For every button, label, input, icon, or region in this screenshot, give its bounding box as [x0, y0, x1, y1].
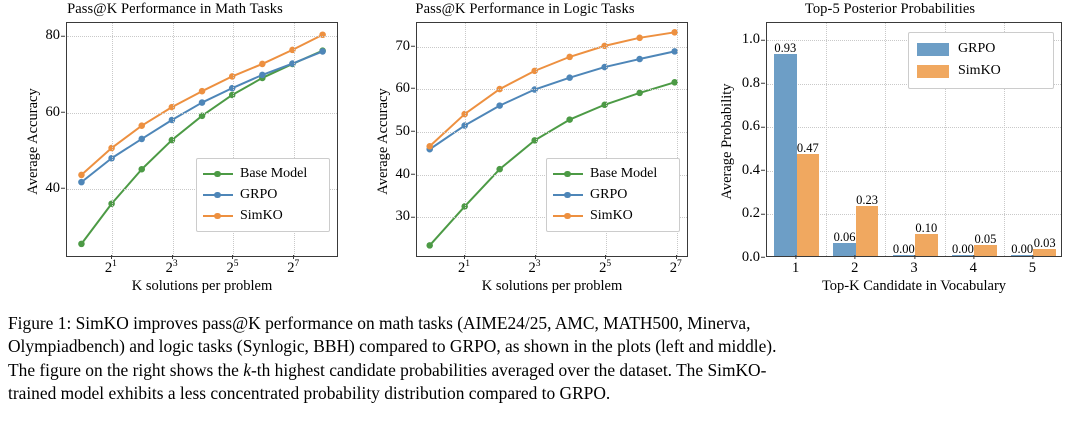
gridline-horizontal: [767, 127, 1061, 128]
bar-value-label: 0.93: [774, 41, 796, 56]
x-tick-label: 23: [529, 260, 541, 277]
y-tick-label: 0.6: [742, 119, 760, 134]
caption-line-2: Olympiadbench) and logic tasks (Synlogic…: [8, 335, 1072, 358]
chart-title-posterior: Top-5 Posterior Probabilities: [700, 1, 1080, 18]
y-tick-label: 50: [396, 124, 411, 139]
gridline-horizontal: [417, 47, 687, 48]
y-tick-label: 30: [396, 209, 411, 224]
tick-mark: [761, 83, 765, 84]
y-axis-label-math: Average Accuracy: [25, 24, 42, 259]
tick-mark: [61, 112, 65, 113]
legend-item: Base Model: [553, 163, 672, 184]
gridline-vertical: [173, 23, 174, 256]
data-point: [496, 102, 503, 109]
y-tick-label: 0.4: [742, 163, 760, 178]
series-line-grpo: [430, 51, 675, 149]
bar-value-label: 0.03: [1034, 236, 1056, 251]
tick-mark: [61, 188, 65, 189]
data-point: [566, 74, 573, 81]
x-tick-label: 27: [287, 260, 299, 277]
chart-title-logic: Pass@K Performance in Logic Tasks: [350, 1, 700, 18]
bar-value-label: 0.00: [893, 242, 915, 257]
tick-mark: [411, 216, 415, 217]
y-axis-label-logic: Average Accuracy: [375, 24, 392, 259]
tick-mark: [464, 255, 465, 259]
figure-caption: Figure 1: SimKO improves pass@K performa…: [8, 312, 1072, 406]
bar-simko-2: [856, 206, 879, 256]
x-tick-label: 25: [226, 260, 238, 277]
data-point: [259, 72, 266, 79]
legend-line-swatch: [553, 189, 583, 201]
tick-mark: [293, 255, 294, 259]
caption-line-4: trained model exhibits a less concentrat…: [8, 382, 1072, 405]
gridline-vertical: [465, 23, 466, 256]
tick-mark: [761, 257, 765, 258]
data-point: [566, 54, 573, 61]
x-tick-label: 1: [792, 260, 799, 277]
x-tick-label: 3: [910, 260, 917, 277]
tick-mark: [411, 131, 415, 132]
tick-mark: [61, 35, 65, 36]
caption-line-3-part-a: The figure on the right shows the: [8, 360, 243, 380]
bar-value-label: 0.47: [797, 141, 819, 156]
gridline-vertical: [826, 23, 827, 256]
caption-line-1: Figure 1: SimKO improves pass@K performa…: [8, 312, 1072, 335]
data-point: [566, 116, 573, 123]
legend-label: GRPO: [958, 41, 995, 57]
legend-item: SimKO: [917, 60, 1045, 82]
legend-item: Base Model: [203, 163, 322, 184]
tick-mark: [1032, 255, 1033, 259]
legend-line-swatch: [203, 210, 233, 222]
legend-color-swatch: [917, 43, 949, 56]
legend-item: SimKO: [203, 205, 322, 226]
data-point: [636, 56, 643, 63]
tick-mark: [761, 170, 765, 171]
tick-mark: [411, 88, 415, 89]
bar-grpo-1: [774, 54, 797, 256]
gridline-horizontal: [67, 113, 337, 114]
y-tick-label: 0.2: [742, 206, 760, 221]
legend-math: Base ModelGRPOSimKO: [196, 158, 330, 232]
figure-container: Pass@K Performance in Math Tasks 406080 …: [0, 0, 1080, 429]
x-tick-label: 2: [851, 260, 858, 277]
legend-label: SimKO: [240, 208, 283, 224]
legend-label: Base Model: [590, 166, 657, 182]
x-tick-label: 27: [670, 260, 682, 277]
legend-label: GRPO: [590, 187, 627, 203]
legend-line-swatch: [553, 210, 583, 222]
tick-mark: [914, 255, 915, 259]
legend-color-swatch: [917, 65, 949, 78]
data-point: [319, 48, 326, 55]
x-axis-label-posterior: Top-K Candidate in Vocabulary: [766, 278, 1062, 295]
data-point: [426, 242, 433, 249]
x-axis-label-math: K solutions per problem: [66, 278, 338, 295]
bar-value-label: 0.23: [856, 193, 878, 208]
legend-posterior: GRPOSimKO: [908, 32, 1054, 89]
bar-simko-3: [915, 234, 938, 256]
x-tick-label: 21: [105, 260, 117, 277]
legend-item: GRPO: [203, 184, 322, 205]
y-tick-label: 0.0: [742, 250, 760, 265]
tick-mark: [676, 255, 677, 259]
tick-mark: [761, 39, 765, 40]
data-point: [636, 35, 643, 42]
tick-mark: [855, 255, 856, 259]
tick-mark: [535, 255, 536, 259]
legend-label: SimKO: [958, 63, 1001, 79]
gridline-horizontal: [417, 132, 687, 133]
x-tick-label: 5: [1029, 260, 1036, 277]
x-tick-label: 23: [166, 260, 178, 277]
caption-italic-k: k: [243, 360, 251, 380]
tick-mark: [973, 255, 974, 259]
tick-mark: [411, 46, 415, 47]
y-tick-label: 1.0: [742, 32, 760, 47]
bar-value-label: 0.00: [1011, 242, 1033, 257]
data-point: [138, 122, 145, 129]
data-point: [636, 90, 643, 97]
gridline-vertical: [112, 23, 113, 256]
x-tick-label: 4: [970, 260, 977, 277]
tick-mark: [111, 255, 112, 259]
legend-line-swatch: [553, 168, 583, 180]
tick-mark: [605, 255, 606, 259]
y-tick-label: 40: [46, 181, 61, 196]
y-tick-label: 60: [46, 105, 61, 120]
bar-value-label: 0.00: [952, 242, 974, 257]
data-point: [138, 166, 145, 173]
data-point: [229, 92, 236, 99]
legend-line-swatch: [203, 168, 233, 180]
gridline-horizontal: [417, 89, 687, 90]
bar-value-label: 0.05: [975, 232, 997, 247]
data-point: [78, 172, 85, 179]
tick-mark: [796, 255, 797, 259]
bar-simko-1: [797, 154, 820, 256]
data-point: [199, 99, 206, 106]
y-tick-label: 0.8: [742, 76, 760, 91]
y-tick-label: 40: [396, 166, 411, 181]
gridline-horizontal: [67, 36, 337, 37]
legend-logic: Base ModelGRPOSimKO: [546, 158, 680, 232]
legend-item: SimKO: [553, 205, 672, 226]
caption-line-3-part-b: -th highest candidate probabilities aver…: [251, 360, 766, 380]
gridline-vertical: [885, 23, 886, 256]
tick-mark: [411, 174, 415, 175]
data-point: [426, 143, 433, 150]
legend-item: GRPO: [917, 38, 1045, 60]
x-tick-label: 25: [599, 260, 611, 277]
bar-value-label: 0.10: [915, 221, 937, 236]
data-point: [496, 166, 503, 173]
gridline-vertical: [536, 23, 537, 256]
legend-item: GRPO: [553, 184, 672, 205]
legend-label: Base Model: [240, 166, 307, 182]
x-tick-label: 21: [458, 260, 470, 277]
y-tick-label: 80: [46, 28, 61, 43]
tick-mark: [232, 255, 233, 259]
legend-line-swatch: [203, 189, 233, 201]
bar-value-label: 0.06: [834, 230, 856, 245]
data-point: [199, 88, 206, 95]
tick-mark: [761, 213, 765, 214]
caption-line-3: The figure on the right shows the k-th h…: [8, 359, 1072, 382]
x-axis-label-logic: K solutions per problem: [416, 278, 688, 295]
data-point: [259, 61, 266, 68]
tick-mark: [172, 255, 173, 259]
data-point: [78, 179, 85, 186]
legend-label: SimKO: [590, 208, 633, 224]
y-tick-label: 60: [396, 81, 411, 96]
y-axis-label-posterior: Average Probability: [719, 24, 736, 259]
data-point: [229, 73, 236, 80]
data-point: [138, 136, 145, 143]
y-tick-label: 70: [396, 38, 411, 53]
data-point: [78, 241, 85, 248]
data-point: [229, 85, 236, 92]
tick-mark: [761, 126, 765, 127]
legend-label: GRPO: [240, 187, 277, 203]
chart-title-math: Pass@K Performance in Math Tasks: [0, 1, 350, 18]
